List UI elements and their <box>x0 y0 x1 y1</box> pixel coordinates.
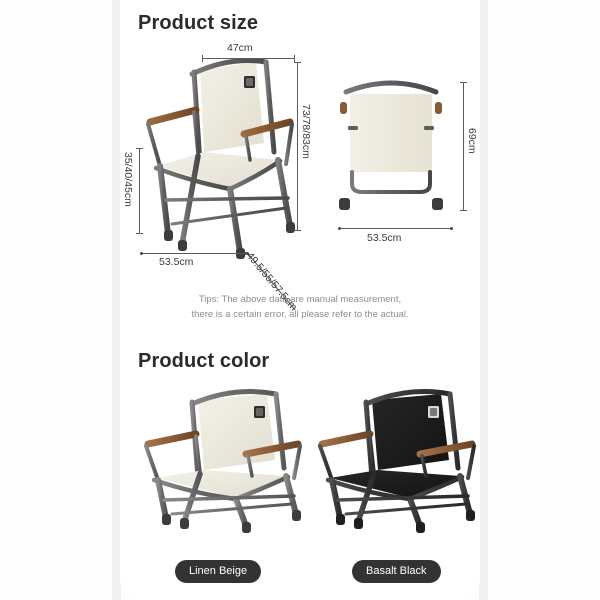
chair-back-view-illustration <box>332 72 450 230</box>
rule-back-width <box>340 228 452 229</box>
rule-tick <box>294 55 295 62</box>
rule-tick <box>202 55 203 62</box>
rule-endpoint <box>450 227 453 230</box>
rule-tick <box>136 148 143 149</box>
dimension-width-base: 53.5cm <box>159 256 193 268</box>
product-detail-page: Product size <box>0 0 600 600</box>
product-size-heading: Product size <box>138 12 258 35</box>
product-color-heading: Product color <box>138 350 269 373</box>
rule-endpoint <box>338 227 341 230</box>
dimension-height-total: 73/78/83cm <box>300 104 312 159</box>
dimension-back-width: 53.5cm <box>367 232 401 244</box>
rule-width-top <box>202 58 294 59</box>
rule-height-total <box>297 62 298 230</box>
dimension-back-height: 69cm <box>466 128 478 154</box>
dimension-width-top: 47cm <box>227 42 253 54</box>
rule-tick <box>460 210 467 211</box>
tips-line-1: Tips: The above data are manual measurem… <box>120 292 480 307</box>
rule-tick <box>294 230 301 231</box>
tips-line-2: there is a certain error, all please ref… <box>120 307 480 322</box>
color-badge-linen-beige[interactable]: Linen Beige <box>175 560 261 583</box>
rule-seat-height <box>139 148 140 233</box>
rule-tick <box>294 62 301 63</box>
rule-tick <box>460 82 467 83</box>
rule-back-height <box>463 82 464 210</box>
color-badge-basalt-black[interactable]: Basalt Black <box>352 560 441 583</box>
measurement-tips: Tips: The above data are manual measurem… <box>120 292 480 322</box>
dimension-seat-height: 35/40/45cm <box>122 152 134 207</box>
rule-endpoint <box>140 252 143 255</box>
rule-width-base <box>142 253 246 254</box>
content-panel: Product size <box>120 0 480 600</box>
chair-linen-beige-illustration[interactable] <box>142 382 317 532</box>
chair-basalt-black-illustration[interactable] <box>316 382 491 532</box>
rule-tick <box>136 233 143 234</box>
